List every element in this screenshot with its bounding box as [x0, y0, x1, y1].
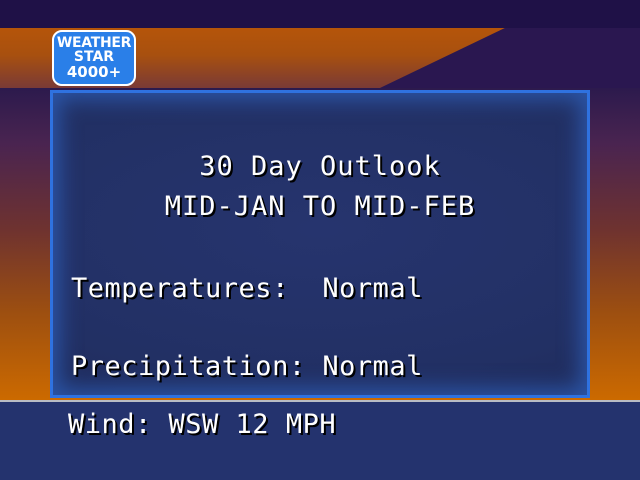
- background-top-band: [0, 0, 640, 28]
- weather-star-logo: WEATHER STAR 4000+: [52, 30, 136, 86]
- logo-line-model: 4000+: [67, 65, 121, 80]
- wind-bar: Wind: WSW 12 MPH: [0, 400, 640, 480]
- temperature-row: Temperatures: Normal: [71, 273, 423, 304]
- outlook-panel: 30 Day Outlook MID-JAN TO MID-FEB Temper…: [50, 90, 590, 398]
- precipitation-row: Precipitation: Normal: [71, 351, 423, 382]
- outlook-panel-inner: 30 Day Outlook MID-JAN TO MID-FEB Temper…: [53, 93, 587, 395]
- weather-star-screen: WEATHER STAR 4000+ Almanac Outlook 1:19:…: [0, 0, 640, 480]
- outlook-heading: 30 Day Outlook: [53, 151, 587, 182]
- logo-line-weather: WEATHER: [57, 36, 131, 50]
- wind-readout: Wind: WSW 12 MPH: [68, 409, 336, 440]
- outlook-period: MID-JAN TO MID-FEB: [53, 191, 587, 222]
